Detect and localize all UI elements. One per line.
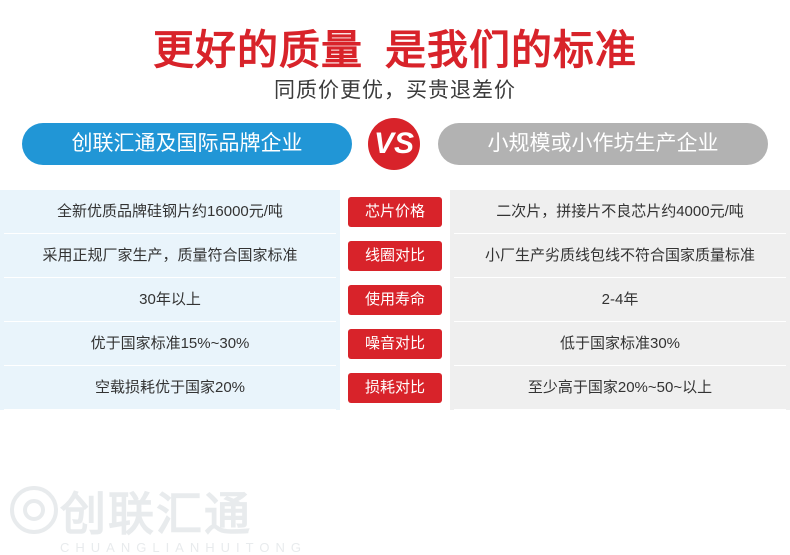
promo-page: 更好的质量是我们的标准 同质价更优，买贵退差价 创联汇通及国际品牌企业 VS 小…: [0, 0, 790, 464]
watermark-text: 创联汇通: [60, 488, 252, 540]
vs-band: 创联汇通及国际品牌企业 VS 小规模或小作坊生产企业: [0, 118, 790, 176]
row-right-value: 2-4年: [454, 278, 786, 322]
vs-badge: VS: [368, 118, 420, 170]
watermark-logo-icon: [10, 486, 58, 534]
page-title: 更好的质量是我们的标准: [0, 16, 790, 76]
page-subtitle: 同质价更优，买贵退差价: [0, 74, 790, 104]
page-title-part1: 更好的质量: [153, 27, 363, 73]
row-label: 使用寿命: [348, 285, 442, 315]
row-label: 噪音对比: [348, 329, 442, 359]
table-row: 全新优质品牌硅钢片约16000元/吨 芯片价格 二次片，拼接片不良芯片约4000…: [0, 190, 790, 234]
comparison-table: 创联汇通 CHUANGLIANHUITONG 全新优质品牌硅钢片约16000元/…: [0, 190, 790, 410]
row-label: 芯片价格: [348, 197, 442, 227]
row-right-value: 二次片，拼接片不良芯片约4000元/吨: [454, 190, 786, 234]
page-title-part2: 是我们的标准: [385, 27, 637, 73]
row-left-value: 全新优质品牌硅钢片约16000元/吨: [4, 190, 336, 234]
row-left-value: 30年以上: [4, 278, 336, 322]
vs-left-pill: 创联汇通及国际品牌企业: [22, 123, 352, 165]
row-right-value: 小厂生产劣质线包线不符合国家质量标准: [454, 234, 786, 278]
watermark: 创联汇通 CHUANGLIANHUITONG: [60, 478, 307, 555]
table-row: 采用正规厂家生产，质量符合国家标准 线圈对比 小厂生产劣质线包线不符合国家质量标…: [0, 234, 790, 278]
row-left-value: 优于国家标准15%~30%: [4, 322, 336, 366]
row-label: 线圈对比: [348, 241, 442, 271]
row-right-value: 至少高于国家20%~50~以上: [454, 366, 786, 410]
row-right-value: 低于国家标准30%: [454, 322, 786, 366]
watermark-subtext: CHUANGLIANHUITONG: [60, 540, 307, 555]
row-label: 损耗对比: [348, 373, 442, 403]
table-row: 空载损耗优于国家20% 损耗对比 至少高于国家20%~50~以上: [0, 366, 790, 410]
vs-right-pill: 小规模或小作坊生产企业: [438, 123, 768, 165]
table-row: 优于国家标准15%~30% 噪音对比 低于国家标准30%: [0, 322, 790, 366]
row-left-value: 采用正规厂家生产，质量符合国家标准: [4, 234, 336, 278]
row-left-value: 空载损耗优于国家20%: [4, 366, 336, 410]
table-row: 30年以上 使用寿命 2-4年: [0, 278, 790, 322]
